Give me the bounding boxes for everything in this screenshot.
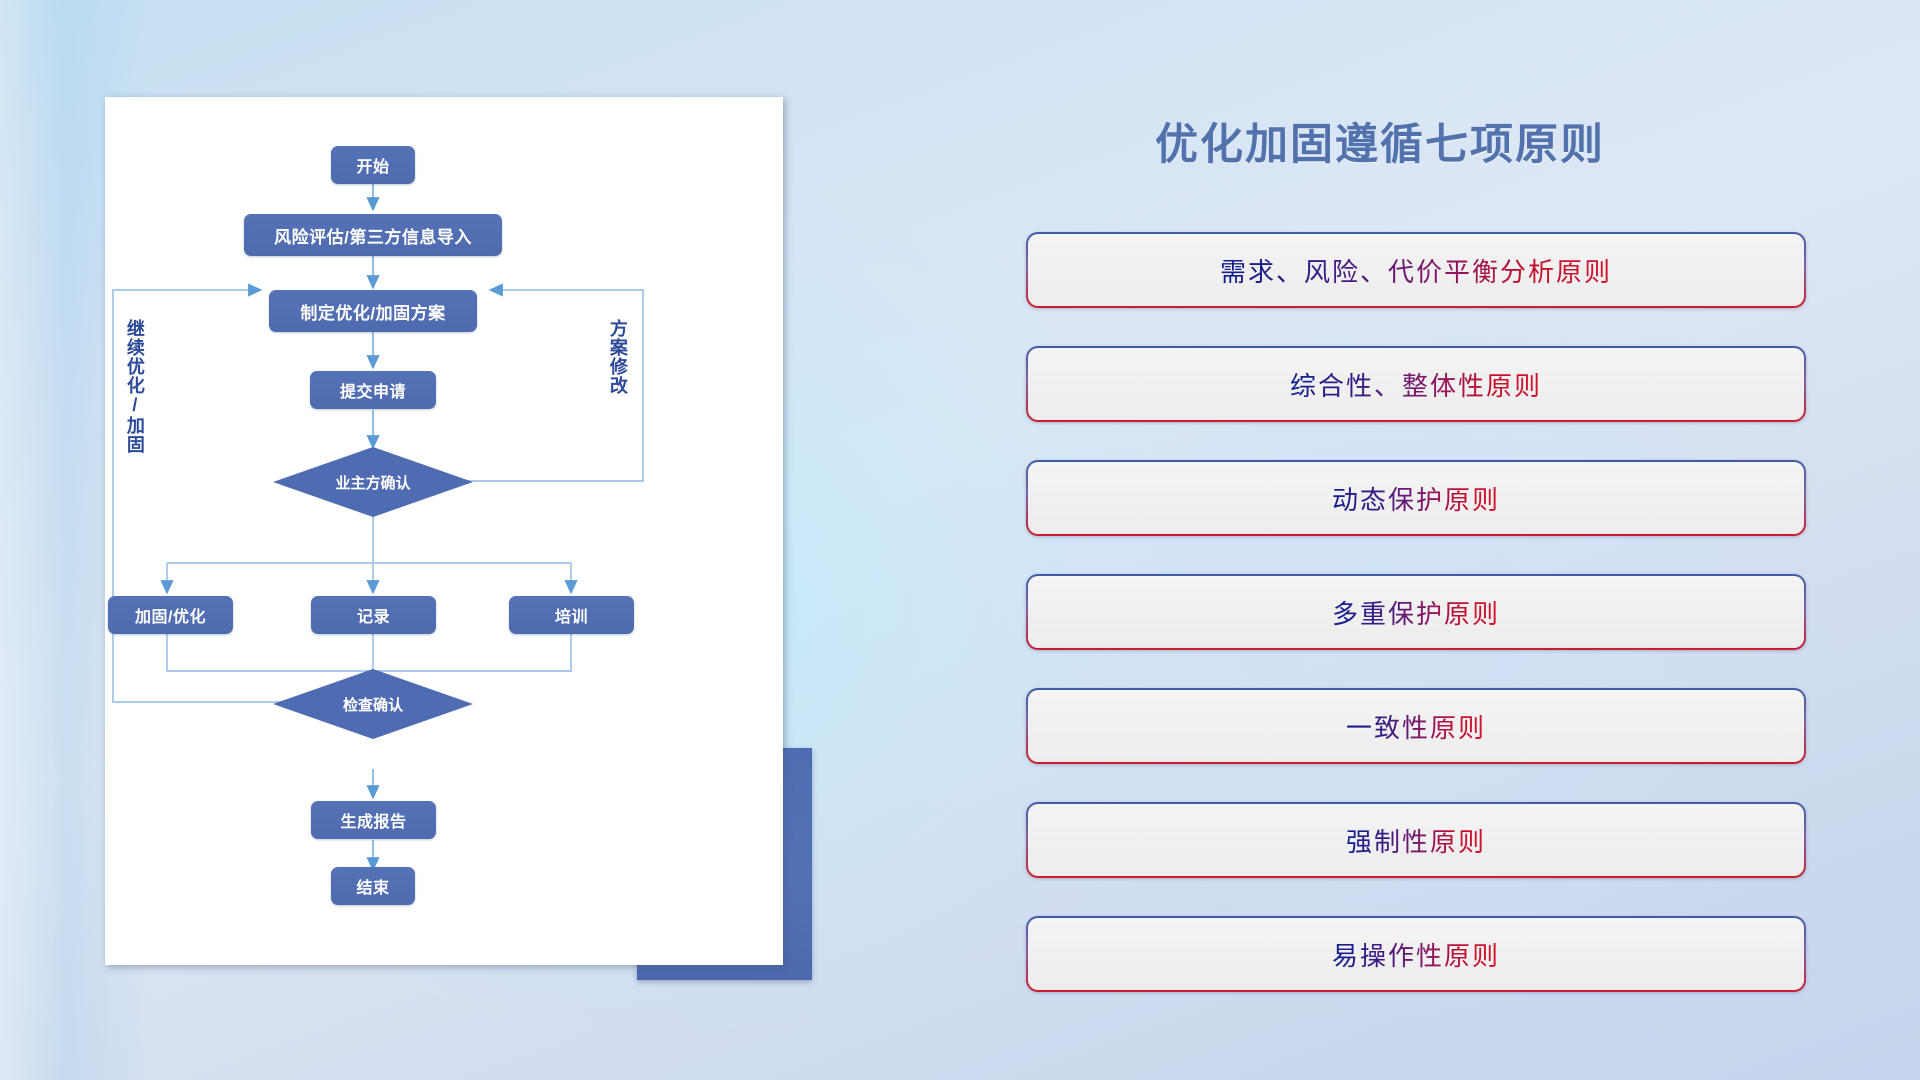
principle-label: 多重保护原则 [1332,594,1500,631]
principle-item-inner: 一致性原则 [1028,690,1804,762]
principle-item-inner: 易操作性原则 [1028,918,1804,990]
flow-node-check-confirm-label: 检查确认 [343,694,403,715]
flowchart-card: 开始 风险评估/第三方信息导入 制定优化/加固方案 提交申请 业主方确认 加固/… [105,97,783,965]
flow-node-report-label: 生成报告 [340,808,406,832]
flow-node-report[interactable]: 生成报告 [311,801,436,839]
principle-item-inner: 综合性、整体性原则 [1028,348,1804,420]
principle-item-inner: 多重保护原则 [1028,576,1804,648]
principle-item[interactable]: 强制性原则 [1026,802,1806,878]
principle-item-inner: 强制性原则 [1028,804,1804,876]
slide-canvas: 开始 风险评估/第三方信息导入 制定优化/加固方案 提交申请 业主方确认 加固/… [0,0,1920,1080]
flow-node-reinforce-label: 加固/优化 [135,603,206,627]
flow-node-plan[interactable]: 制定优化/加固方案 [269,290,477,332]
principle-item-inner: 动态保护原则 [1028,462,1804,534]
flow-node-start[interactable]: 开始 [331,146,415,184]
flow-node-assess[interactable]: 风险评估/第三方信息导入 [244,214,502,256]
flow-node-train-label: 培训 [555,603,588,627]
flow-node-start-label: 开始 [356,153,389,177]
principles-list: 需求、风险、代价平衡分析原则 综合性、整体性原则 动态保护原则 多重保护原则 一… [1026,232,1806,1030]
flow-node-owner-confirm[interactable]: 业主方确认 [273,447,473,517]
edge-label-left-loop: 继续优化/加固 [125,319,144,454]
flow-node-end[interactable]: 结束 [331,867,415,905]
flow-node-check-confirm[interactable]: 检查确认 [273,669,473,739]
principle-item[interactable]: 需求、风险、代价平衡分析原则 [1026,232,1806,308]
edge-label-right-loop: 方案修改 [608,319,627,395]
flow-node-end-label: 结束 [356,874,389,898]
flow-node-train[interactable]: 培训 [509,596,634,634]
principle-label: 综合性、整体性原则 [1290,366,1542,403]
principle-label: 动态保护原则 [1332,480,1500,517]
principle-label: 易操作性原则 [1332,936,1500,973]
flow-node-owner-confirm-label: 业主方确认 [335,472,410,493]
flow-node-record[interactable]: 记录 [311,596,436,634]
principles-panel-title: 优化加固遵循七项原则 [1155,110,1605,172]
principle-item[interactable]: 一致性原则 [1026,688,1806,764]
flow-node-plan-label: 制定优化/加固方案 [300,299,445,324]
principle-item[interactable]: 综合性、整体性原则 [1026,346,1806,422]
principle-item[interactable]: 易操作性原则 [1026,916,1806,992]
principle-item[interactable]: 多重保护原则 [1026,574,1806,650]
principle-item[interactable]: 动态保护原则 [1026,460,1806,536]
flow-node-record-label: 记录 [357,603,390,627]
principle-label: 强制性原则 [1346,822,1486,859]
principle-item-inner: 需求、风险、代价平衡分析原则 [1028,234,1804,306]
flow-node-submit-label: 提交申请 [340,378,406,402]
flow-node-submit[interactable]: 提交申请 [310,371,436,409]
principle-label: 一致性原则 [1346,708,1486,745]
flow-node-assess-label: 风险评估/第三方信息导入 [274,223,472,248]
flow-node-reinforce[interactable]: 加固/优化 [108,596,233,634]
principle-label: 需求、风险、代价平衡分析原则 [1220,252,1612,289]
